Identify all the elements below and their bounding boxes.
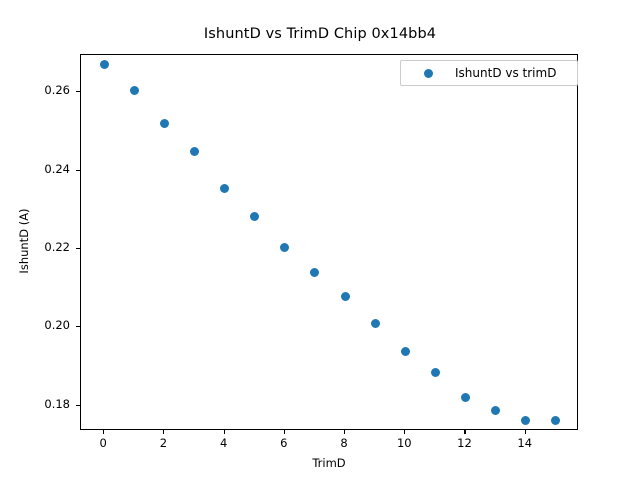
y-tick-mark (76, 248, 80, 249)
data-point (280, 243, 289, 252)
data-point (130, 86, 139, 95)
x-tick-label: 8 (314, 436, 374, 450)
chart-title: IshuntD vs TrimD Chip 0x14bb4 (0, 26, 640, 42)
data-point (190, 147, 199, 156)
data-point (371, 319, 380, 328)
data-point (310, 268, 319, 277)
x-tick-mark (404, 430, 405, 434)
x-tick-label: 10 (374, 436, 434, 450)
data-point (461, 393, 470, 402)
x-tick-mark (525, 430, 526, 434)
data-point (341, 292, 350, 301)
data-point (551, 416, 560, 425)
legend: IshuntD vs trimD (400, 60, 578, 86)
legend-label: IshuntD vs trimD (455, 66, 556, 80)
data-point (220, 184, 229, 193)
y-tick-mark (76, 91, 80, 92)
y-axis-label: IshuntD (A) (17, 53, 31, 429)
data-point (250, 212, 259, 221)
x-tick-label: 4 (194, 436, 254, 450)
x-axis-label: TrimD (80, 456, 578, 470)
y-tick-mark (76, 170, 80, 171)
x-tick-label: 2 (133, 436, 193, 450)
x-tick-label: 0 (73, 436, 133, 450)
x-tick-mark (224, 430, 225, 434)
data-point (491, 406, 500, 415)
x-tick-mark (284, 430, 285, 434)
data-point (431, 368, 440, 377)
x-tick-label: 12 (434, 436, 494, 450)
legend-marker-icon (424, 69, 433, 78)
y-tick-mark (76, 326, 80, 327)
data-point (521, 416, 530, 425)
data-point (160, 119, 169, 128)
data-point (401, 347, 410, 356)
x-tick-label: 14 (495, 436, 555, 450)
x-tick-mark (464, 430, 465, 434)
plot-area (80, 54, 578, 430)
data-point (100, 60, 109, 69)
x-tick-label: 6 (254, 436, 314, 450)
scatter-chart-figure: IshuntD vs TrimD Chip 0x14bb4 0246810121… (0, 0, 640, 480)
y-tick-mark (76, 405, 80, 406)
x-tick-mark (163, 430, 164, 434)
x-tick-mark (344, 430, 345, 434)
x-tick-mark (103, 430, 104, 434)
